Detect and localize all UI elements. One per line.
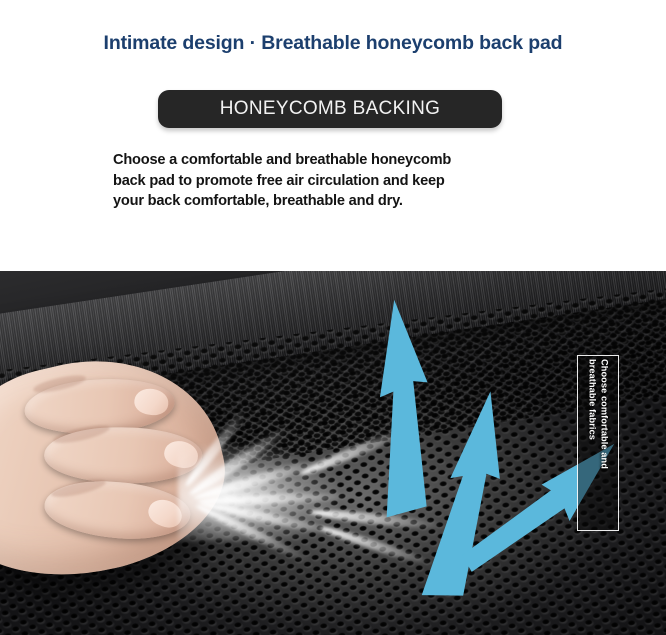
fingernail	[145, 495, 186, 532]
description-text: Choose a comfortable and breathable hone…	[113, 150, 553, 212]
fingernail	[161, 437, 201, 471]
caption-line-2: breathable fabrics	[587, 359, 599, 527]
fabric-caption-box: Choose comfortable and breathable fabric…	[577, 355, 619, 531]
text-section: Intimate design · Breathable honeycomb b…	[0, 0, 666, 271]
caption-line-1: Choose comfortable and	[598, 359, 610, 527]
honeycomb-backing-badge: HONEYCOMB BACKING	[158, 90, 502, 128]
description-line-2: back pad to promote free air circulation…	[113, 171, 553, 192]
product-photo: Choose comfortable and breathable fabric…	[0, 271, 666, 635]
description-line-3: your back comfortable, breathable and dr…	[113, 191, 553, 212]
fabric-caption-text: Choose comfortable and breathable fabric…	[587, 359, 610, 527]
fingernail	[133, 387, 170, 417]
badge-pill: HONEYCOMB BACKING	[158, 90, 502, 128]
description-line-1: Choose a comfortable and breathable hone…	[113, 150, 553, 171]
page-title: Intimate design · Breathable honeycomb b…	[0, 32, 666, 55]
badge-label: HONEYCOMB BACKING	[220, 98, 440, 120]
product-feature-panel: Intimate design · Breathable honeycomb b…	[0, 0, 666, 635]
